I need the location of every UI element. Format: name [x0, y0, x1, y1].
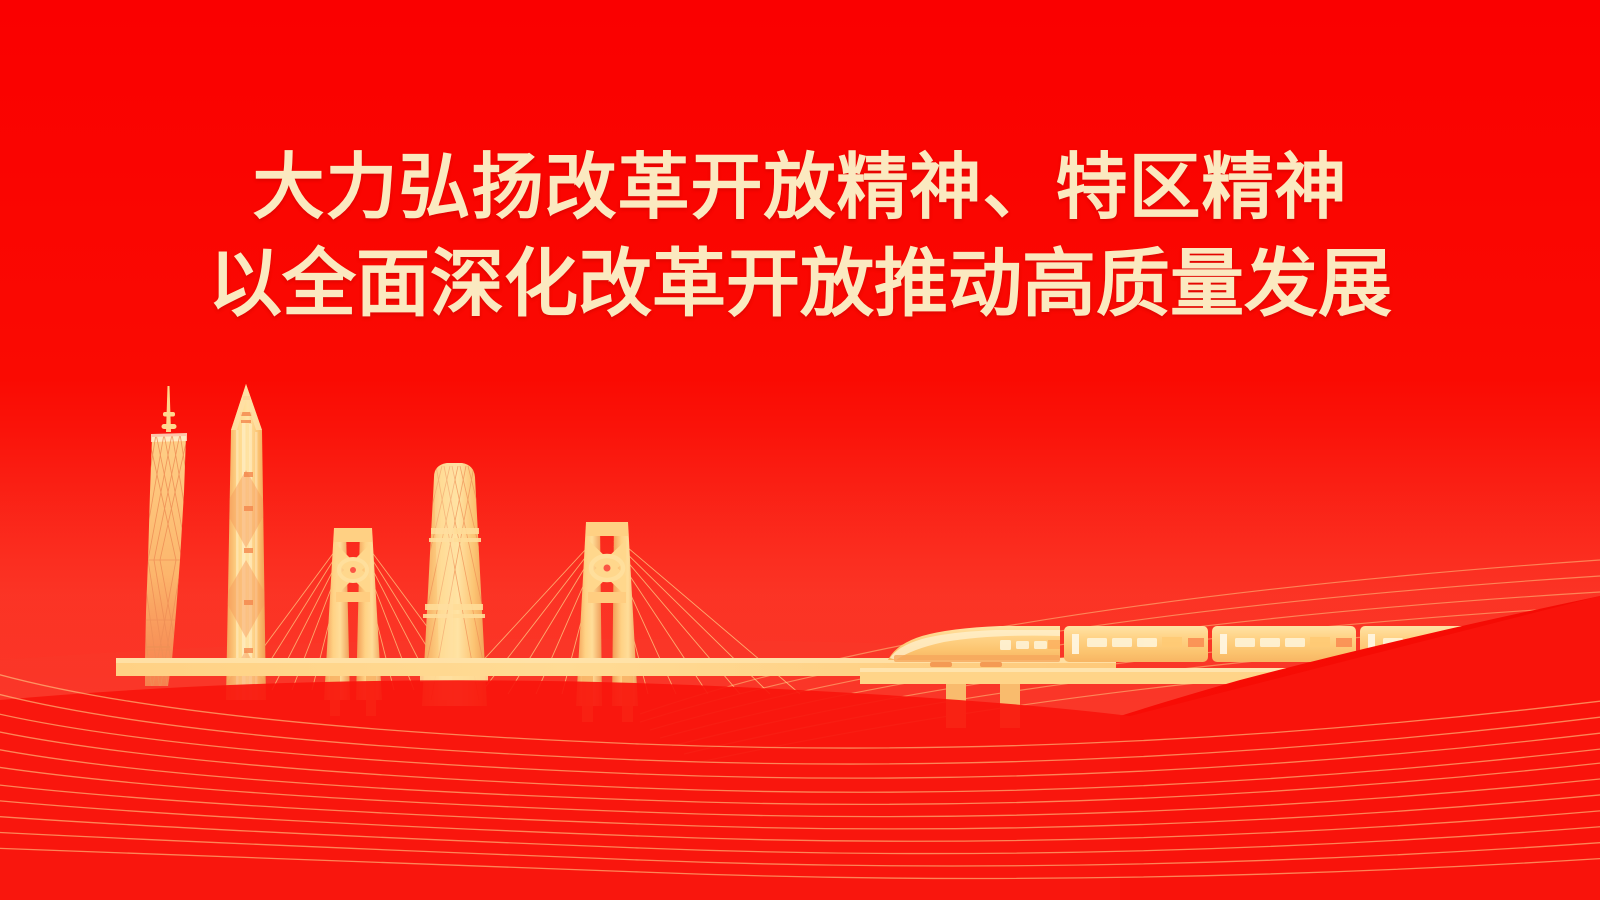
train-car — [1064, 626, 1208, 662]
poster-illustration — [0, 0, 1600, 900]
poster-canvas: 大力弘扬改革开放精神、特区精神 以全面深化改革开放推动高质量发展 — [0, 0, 1600, 900]
